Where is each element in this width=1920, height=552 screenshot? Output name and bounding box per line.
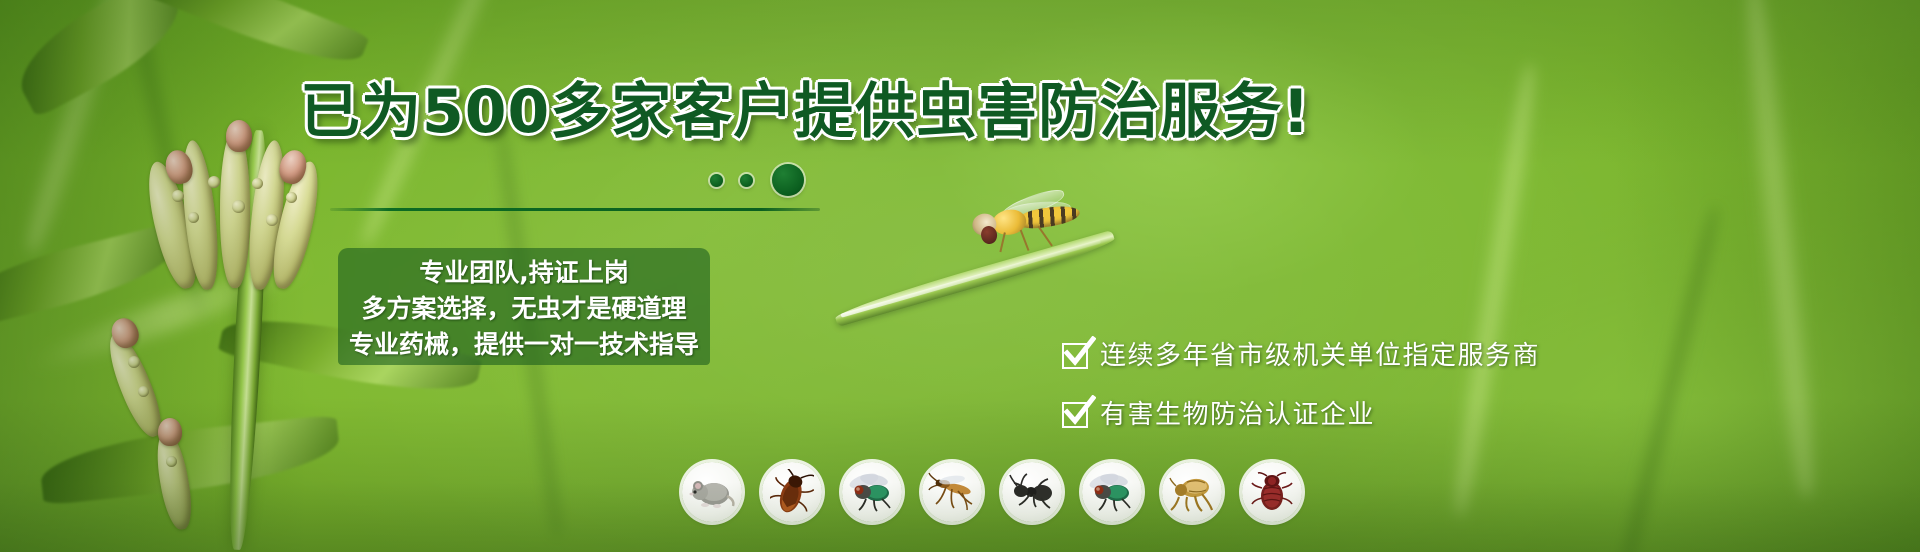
feature-check-list: 连续多年省市级机关单位指定服务商 有害生物防治认证企业 (1062, 335, 1622, 453)
dot-small-icon (710, 174, 723, 187)
decorative-dots (710, 160, 840, 200)
promo-banner: 已为500多家客户提供虫害防治服务! 专业团队,持证上岗 多方案选择，无虫才是硬… (0, 0, 1920, 552)
feature-item-1-label: 连续多年省市级机关单位指定服务商 (1100, 341, 1540, 371)
slogan-line-3: 专业药械，提供一对一技术指导 (338, 328, 710, 362)
dot-small-icon (740, 174, 753, 187)
divider (330, 208, 820, 211)
feature-item-1: 连续多年省市级机关单位指定服务商 (1062, 335, 1622, 377)
feature-item-2: 有害生物防治认证企业 (1062, 394, 1622, 436)
headline: 已为500多家客户提供虫害防治服务! (300, 74, 1300, 150)
bottom-shadow (0, 482, 1920, 552)
dot-large-icon (772, 164, 804, 196)
slogan-box: 专业团队,持证上岗 多方案选择，无虫才是硬道理 专业药械，提供一对一技术指导 (338, 248, 710, 365)
slogan-line-2: 多方案选择，无虫才是硬道理 (338, 292, 710, 326)
feature-item-2-label: 有害生物防治认证企业 (1100, 400, 1375, 430)
slogan-line-1: 专业团队,持证上岗 (338, 256, 710, 290)
checkbox-checked-icon (1062, 402, 1088, 428)
headline-text: 已为500多家客户提供虫害防治服务! (300, 77, 1311, 147)
checkbox-checked-icon (1062, 343, 1088, 369)
